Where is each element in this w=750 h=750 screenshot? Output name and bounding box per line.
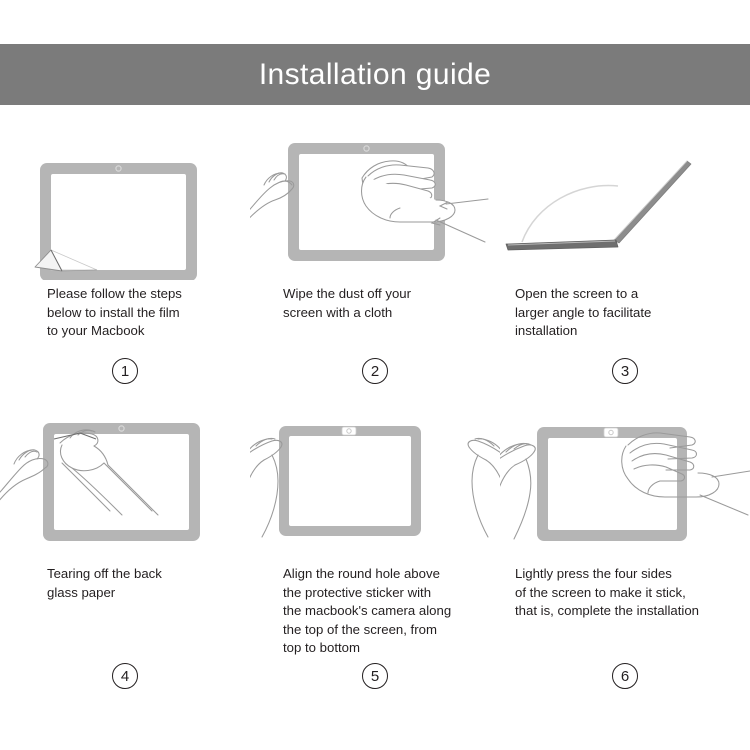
laptop-lid (614, 161, 691, 243)
left-hand-outline (0, 450, 48, 513)
step-1-illustration (0, 130, 250, 280)
left-hand-outline (250, 173, 294, 226)
step-4-badge-wrap: 4 (0, 663, 250, 689)
step-card-6: Lightly press the four sides of the scre… (500, 415, 750, 715)
step-4-illustration (0, 415, 250, 565)
step-3-badge-wrap: 3 (500, 358, 750, 384)
step-2-badge-wrap: 2 (250, 358, 500, 384)
macbook-screen-frame (279, 426, 421, 536)
left-hand-outline (250, 438, 282, 537)
open-angle-arc (522, 186, 618, 242)
step-number-badge: 6 (612, 663, 638, 689)
step-1-badge-wrap: 1 (0, 358, 250, 384)
step-6-caption: Lightly press the four sides of the scre… (500, 565, 750, 621)
step-number-badge: 3 (612, 358, 638, 384)
step-card-3: Open the screen to a larger angle to fac… (500, 130, 750, 415)
step-6-badge-wrap: 6 (500, 663, 750, 689)
right-hand-outline (468, 438, 500, 537)
header-band: Installation guide (0, 44, 750, 105)
step-number-badge: 4 (112, 663, 138, 689)
step-card-2: Wipe the dust off your screen with a clo… (250, 130, 500, 415)
step-card-5: Align the round hole above the protectiv… (250, 415, 500, 715)
left-hand-outline (500, 443, 535, 539)
step-card-4: Tearing off the back glass paper 4 (0, 415, 250, 715)
page-title: Installation guide (259, 60, 491, 90)
step-number-badge: 5 (362, 663, 388, 689)
step-5-illustration (250, 415, 500, 565)
installation-steps-grid: Please follow the steps below to install… (0, 130, 750, 730)
step-card-1: Please follow the steps below to install… (0, 130, 250, 415)
direction-indicator-lines (700, 471, 750, 515)
step-5-caption: Align the round hole above the protectiv… (250, 565, 533, 658)
step-2-caption: Wipe the dust off your screen with a clo… (250, 285, 533, 322)
step-2-illustration (250, 130, 500, 280)
step-3-caption: Open the screen to a larger angle to fac… (500, 285, 750, 341)
step-6-illustration (500, 415, 750, 565)
step-number-badge: 1 (112, 358, 138, 384)
step-number-badge: 2 (362, 358, 388, 384)
step-5-badge-wrap: 5 (250, 663, 500, 689)
macbook-screen-frame (43, 423, 200, 541)
step-3-illustration (500, 130, 750, 280)
